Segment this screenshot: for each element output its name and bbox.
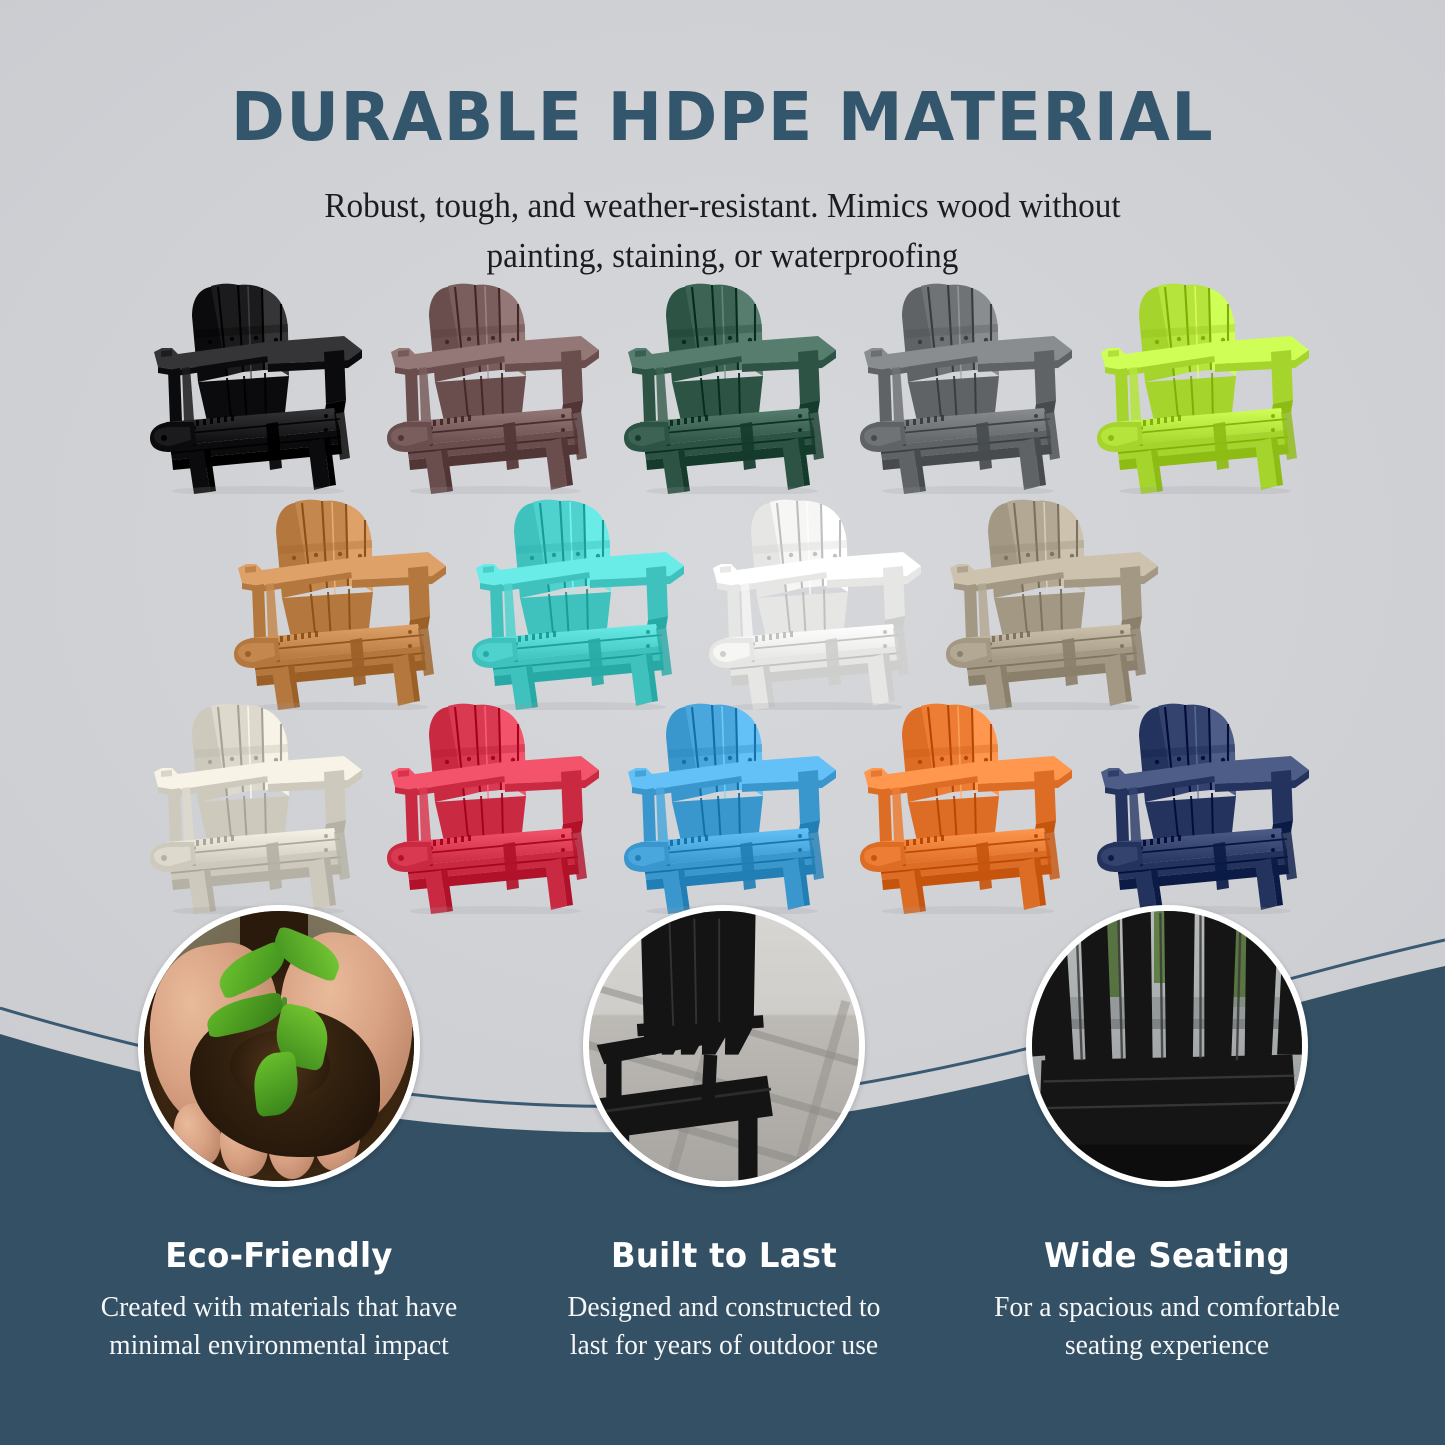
chair-swatch-dark-green[interactable] (622, 272, 852, 494)
r0c2-svg (622, 272, 852, 494)
wide-seating-photo (1026, 905, 1308, 1187)
chair-swatch-navy-blue[interactable] (1095, 692, 1325, 914)
r0c3-svg (858, 272, 1088, 494)
feature-wide-seating: Wide Seating For a spacious and comforta… (932, 1236, 1402, 1365)
r0c1-svg (385, 272, 615, 494)
chair-swatch-khaki[interactable] (944, 488, 1174, 710)
chair-swatch-red[interactable] (385, 692, 615, 914)
chair-swatch-brown[interactable] (385, 272, 615, 494)
r0c0-svg (148, 272, 378, 494)
r2c1-svg (385, 692, 615, 914)
feature-description: Created with materials that have minimal… (56, 1288, 503, 1365)
hands-holding-soil-and-sprout-icon (144, 911, 414, 1181)
r2c0-svg (148, 692, 378, 914)
r2c3-svg (858, 692, 1088, 914)
chair-swatch-light-blue[interactable] (622, 692, 852, 914)
feature-description-line-2: minimal environmental impact (109, 1329, 449, 1361)
eco-friendly-photo (138, 905, 420, 1187)
feature-built-to-last: Built to Last Designed and constructed t… (489, 1236, 959, 1365)
built-to-last-photo (583, 905, 865, 1187)
chair-swatch-ivory[interactable] (148, 692, 378, 914)
chair-swatch-black[interactable] (148, 272, 378, 494)
chair-swatch-teak[interactable] (232, 488, 462, 710)
r2c2-svg (622, 692, 852, 914)
feature-description-line-1: For a spacious and comfortable (994, 1291, 1340, 1323)
r1c0-svg (232, 488, 462, 710)
r2c4-svg (1095, 692, 1325, 914)
chair-swatch-orange[interactable] (858, 692, 1088, 914)
r1c2-svg (707, 488, 937, 710)
chair-swatch-lime-green[interactable] (1095, 272, 1325, 494)
chair-swatch-turquoise[interactable] (470, 488, 700, 710)
r1c3-svg (944, 488, 1174, 710)
feature-description-line-1: Created with materials that have (101, 1291, 457, 1323)
feature-heading: Eco-Friendly (56, 1236, 503, 1276)
feature-description-line-2: last for years of outdoor use (570, 1329, 878, 1361)
chair-swatch-white[interactable] (707, 488, 937, 710)
feature-heading: Built to Last (501, 1236, 948, 1276)
chair-swatch-gray[interactable] (858, 272, 1088, 494)
feature-heading: Wide Seating (944, 1236, 1391, 1276)
feature-description: For a spacious and comfortable seating e… (944, 1288, 1391, 1365)
black-adirondack-chair-on-patio-icon (589, 911, 859, 1181)
feature-description-line-1: Designed and constructed to (568, 1291, 881, 1323)
close-up-of-wide-chair-seat-icon (1032, 911, 1302, 1181)
feature-description: Designed and constructed to last for yea… (501, 1288, 948, 1365)
r0c4-svg (1095, 272, 1325, 494)
feature-eco-friendly: Eco-Friendly Created with materials that… (44, 1236, 514, 1365)
feature-description-line-2: seating experience (1065, 1329, 1269, 1361)
r1c1-svg (470, 488, 700, 710)
